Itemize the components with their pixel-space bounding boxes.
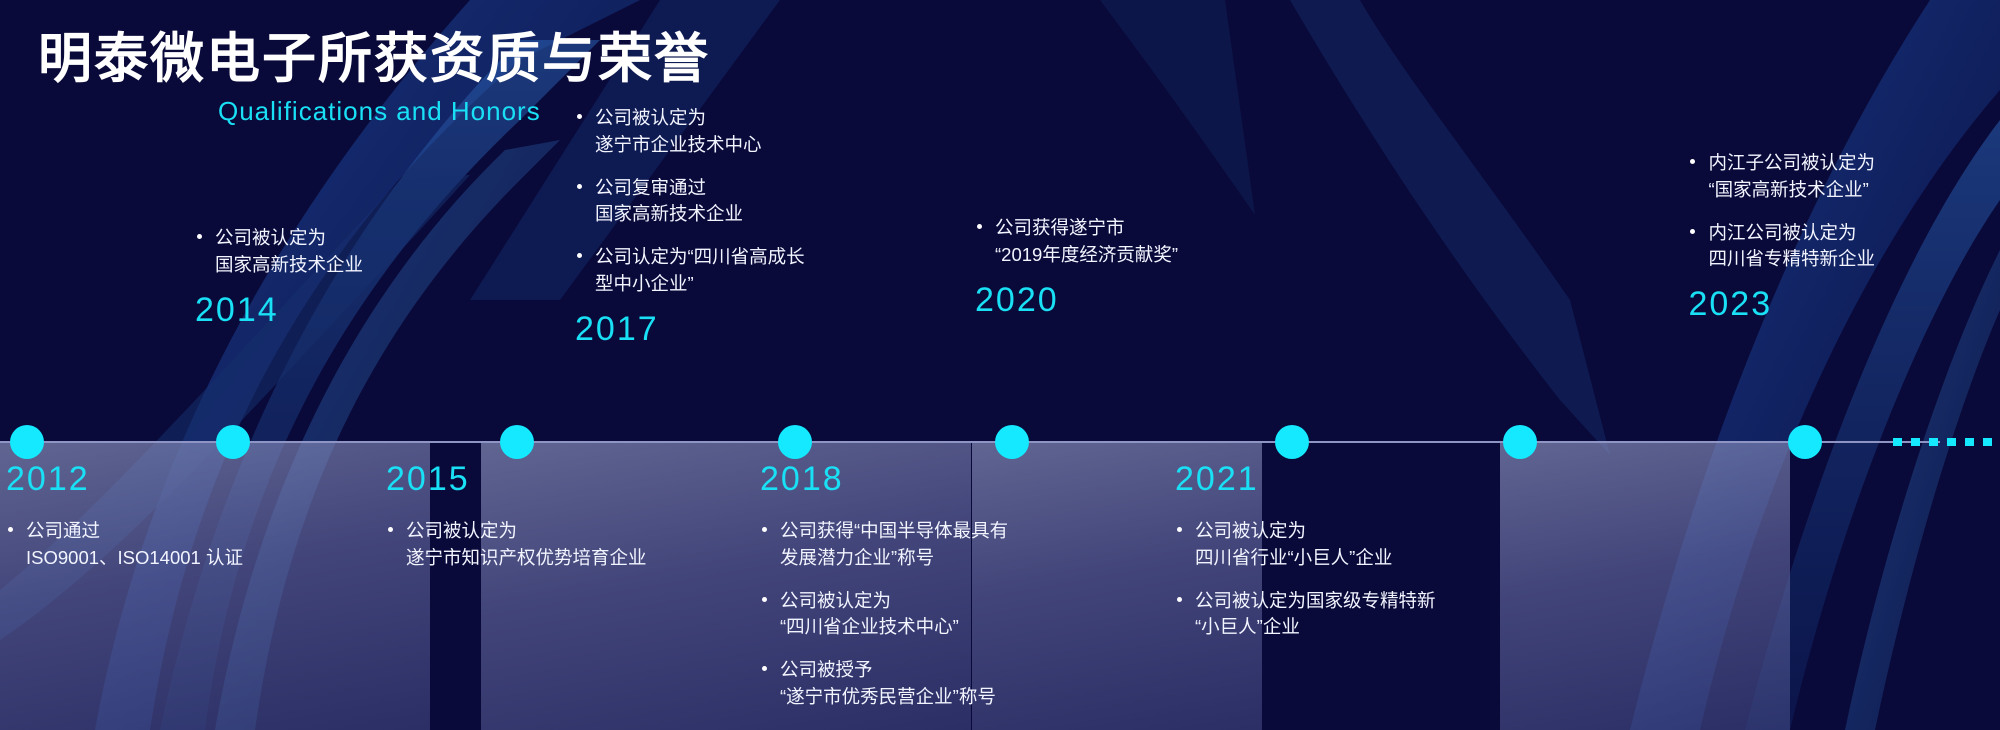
- bullet-list: 公司被认定为 遂宁市企业技术中心公司复审通过 国家高新技术企业公司认定为“四川省…: [575, 105, 805, 298]
- bullet-item: 内江公司被认定为 四川省专精特新企业: [1688, 220, 1875, 274]
- bullet-item: 公司认定为“四川省高成长 型中小企业”: [575, 244, 805, 298]
- bullet-item: 内江子公司被认定为 “国家高新技术企业”: [1688, 150, 1875, 204]
- timeline-entry-2023: 内江子公司被认定为 “国家高新技术企业”内江公司被认定为 四川省专精特新企业20…: [1688, 150, 1875, 321]
- timeline-node-dot-2015[interactable]: [500, 425, 534, 459]
- bullet-item: 公司被认定为国家级专精特新 “小巨人”企业: [1175, 588, 1436, 642]
- year-label-2017: 2017: [575, 312, 805, 346]
- bullet-item: 公司获得遂宁市 “2019年度经济贡献奖”: [975, 215, 1178, 269]
- bullet-item: 公司被认定为 国家高新技术企业: [195, 225, 363, 279]
- axis-dash-segment: [1983, 438, 1992, 446]
- bullet-list: 公司获得遂宁市 “2019年度经济贡献奖”: [975, 215, 1178, 269]
- year-label-2014: 2014: [195, 293, 363, 327]
- axis-dash-segment: [1965, 438, 1974, 446]
- timeline-node-dot-2018[interactable]: [995, 425, 1029, 459]
- timeline-entry-2021: 2021公司被认定为 四川省行业“小巨人”企业公司被认定为国家级专精特新 “小巨…: [1175, 462, 1436, 641]
- year-label-2015: 2015: [386, 462, 647, 496]
- page-title: 明泰微电子所获资质与荣誉: [38, 28, 710, 90]
- axis-dash-segment: [1947, 438, 1956, 446]
- year-label-2023: 2023: [1688, 287, 1875, 321]
- timeline-entry-2017: 公司被认定为 遂宁市企业技术中心公司复审通过 国家高新技术企业公司认定为“四川省…: [575, 105, 805, 346]
- year-label-2020: 2020: [975, 283, 1178, 317]
- timeline-panel: [1500, 442, 1790, 730]
- bullet-item: 公司复审通过 国家高新技术企业: [575, 175, 805, 229]
- bullet-item: 公司通过 ISO9001、ISO14001 认证: [6, 518, 243, 572]
- year-label-2018: 2018: [760, 462, 1008, 496]
- bullet-item: 公司获得“中国半导体最具有 发展潜力企业”称号: [760, 518, 1008, 572]
- bullet-list: 公司通过 ISO9001、ISO14001 认证: [6, 518, 243, 572]
- timeline-axis-dashes: [1893, 438, 1992, 446]
- bullet-list: 公司获得“中国半导体最具有 发展潜力企业”称号公司被认定为 “四川省企业技术中心…: [760, 518, 1008, 711]
- year-label-2021: 2021: [1175, 462, 1436, 496]
- year-label-2012: 2012: [6, 462, 243, 496]
- axis-dash-segment: [1911, 438, 1920, 446]
- axis-dash-segment: [1893, 438, 1902, 446]
- bullet-item: 公司被认定为 遂宁市知识产权优势培育企业: [386, 518, 647, 572]
- timeline-node-dot-2017[interactable]: [778, 425, 812, 459]
- bullet-item: 公司被认定为 遂宁市企业技术中心: [575, 105, 805, 159]
- bullet-list: 公司被认定为 四川省行业“小巨人”企业公司被认定为国家级专精特新 “小巨人”企业: [1175, 518, 1436, 641]
- timeline-entry-2020: 公司获得遂宁市 “2019年度经济贡献奖”2020: [975, 215, 1178, 317]
- timeline-node-dot-2014[interactable]: [216, 425, 250, 459]
- timeline-node-dot-2023[interactable]: [1788, 425, 1822, 459]
- bullet-list: 公司被认定为 国家高新技术企业: [195, 225, 363, 279]
- bullet-list: 内江子公司被认定为 “国家高新技术企业”内江公司被认定为 四川省专精特新企业: [1688, 150, 1875, 273]
- axis-dash-segment: [1929, 438, 1938, 446]
- timeline-entry-2015: 2015公司被认定为 遂宁市知识产权优势培育企业: [386, 462, 647, 572]
- bullet-item: 公司被授予 “遂宁市优秀民营企业”称号: [760, 657, 1008, 711]
- bullet-item: 公司被认定为 “四川省企业技术中心”: [760, 588, 1008, 642]
- timeline-node-dot-2021[interactable]: [1503, 425, 1537, 459]
- timeline-entry-2018: 2018公司获得“中国半导体最具有 发展潜力企业”称号公司被认定为 “四川省企业…: [760, 462, 1008, 711]
- timeline-infographic: 明泰微电子所获资质与荣誉 Qualifications and Honors 2…: [0, 0, 2000, 730]
- timeline-node-dot-2020[interactable]: [1275, 425, 1309, 459]
- timeline-entry-2014: 公司被认定为 国家高新技术企业2014: [195, 225, 363, 327]
- timeline-axis: [0, 441, 1940, 443]
- bullet-item: 公司被认定为 四川省行业“小巨人”企业: [1175, 518, 1436, 572]
- bullet-list: 公司被认定为 遂宁市知识产权优势培育企业: [386, 518, 647, 572]
- timeline-entry-2012: 2012公司通过 ISO9001、ISO14001 认证: [6, 462, 243, 572]
- timeline-node-dot-2012[interactable]: [10, 425, 44, 459]
